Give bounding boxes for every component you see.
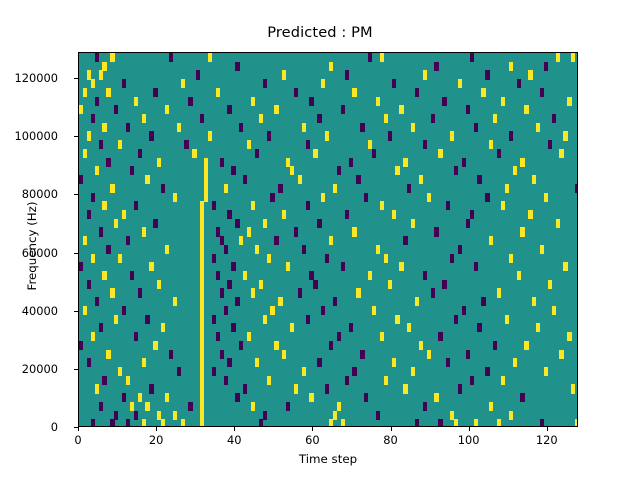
heatmap-cell [247, 140, 251, 149]
heatmap-cell [102, 271, 106, 280]
heatmap-cell [454, 419, 458, 427]
heatmap-cell [513, 166, 517, 175]
heatmap-cell [548, 280, 552, 289]
heatmap-cell [153, 219, 157, 228]
heatmap-cell [427, 350, 431, 359]
heatmap-cell [458, 245, 462, 254]
heatmap-cell [364, 393, 368, 402]
heatmap-cell [509, 131, 513, 140]
heatmap-cell [466, 219, 470, 228]
heatmap-cell [415, 297, 419, 306]
heatmap-cell [419, 175, 423, 184]
heatmap-cell [278, 297, 282, 306]
x-tick-mark [312, 427, 313, 431]
heatmap-cell [235, 393, 239, 402]
heatmap-cell [528, 70, 532, 79]
heatmap-cell [212, 367, 216, 376]
heatmap-cell [450, 254, 454, 263]
heatmap-cell [481, 88, 485, 97]
heatmap-cell [434, 393, 438, 402]
heatmap-cell [309, 97, 313, 106]
x-tick-mark [469, 427, 470, 431]
heatmap-cell [376, 411, 380, 420]
x-tick-mark [391, 427, 392, 431]
heatmap-cell [83, 236, 87, 245]
heatmap-cell [302, 245, 306, 254]
heatmap-cell [106, 158, 110, 167]
heatmap-cell [454, 166, 458, 175]
heatmap-cell [95, 53, 99, 62]
heatmap-cell [493, 114, 497, 123]
heatmap-cell [356, 175, 360, 184]
heatmap-cell [395, 315, 399, 324]
heatmap-cell [282, 350, 286, 359]
heatmap-cell [352, 367, 356, 376]
heatmap-cell [294, 227, 298, 236]
heatmap-cell [200, 236, 204, 245]
heatmap-cell [99, 140, 103, 149]
heatmap-cell [477, 323, 481, 332]
heatmap-cell [231, 262, 235, 271]
x-tick-label: 80 [383, 433, 398, 447]
heatmap-cell [255, 358, 259, 367]
heatmap-cell [114, 105, 118, 114]
heatmap-cell [267, 131, 271, 140]
heatmap-cell [99, 70, 103, 79]
heatmap-cell [474, 123, 478, 132]
heatmap-cell [306, 315, 310, 324]
heatmap-cell [571, 53, 575, 62]
heatmap-cell [540, 88, 544, 97]
heatmap-cell [239, 236, 243, 245]
heatmap-cell [110, 184, 114, 193]
heatmap-cell [99, 402, 103, 411]
heatmap-cell [270, 193, 274, 202]
heatmap-cell [126, 123, 130, 132]
heatmap-cell [509, 254, 513, 263]
heatmap-cell [122, 210, 126, 219]
heatmap-cell [294, 88, 298, 97]
heatmap-cell [552, 306, 556, 315]
heatmap-cell [466, 350, 470, 359]
heatmap-cell [83, 149, 87, 158]
heatmap-cell [563, 131, 567, 140]
x-tick-mark [78, 427, 79, 431]
heatmap-cell [216, 88, 220, 97]
heatmap-cell [157, 280, 161, 289]
heatmap-cell [520, 158, 524, 167]
heatmap-cell [227, 210, 231, 219]
heatmap-cell [356, 288, 360, 297]
heatmap-cell [110, 288, 114, 297]
heatmap-cell [259, 419, 263, 427]
heatmap-cell [360, 350, 364, 359]
heatmap-cell [392, 358, 396, 367]
heatmap-cell [505, 315, 509, 324]
heatmap-cell [497, 288, 501, 297]
heatmap-cell [474, 419, 478, 427]
heatmap-cell [411, 123, 415, 132]
heatmap-cell [200, 376, 204, 385]
heatmap-cell [399, 262, 403, 271]
matplotlib-figure: Predicted : PM 0200004000060000800001000… [0, 0, 640, 480]
heatmap-cell [134, 201, 138, 210]
heatmap-cell [212, 201, 216, 210]
heatmap-cell [247, 227, 251, 236]
heatmap-cell [438, 419, 442, 427]
heatmap-cell [302, 367, 306, 376]
heatmap-cell [255, 245, 259, 254]
x-tick-mark [547, 427, 548, 431]
heatmap-cell [87, 131, 91, 140]
x-axis-label: Time step [78, 452, 578, 466]
y-tick-label: 120000 [15, 71, 58, 85]
heatmap-cell [349, 323, 353, 332]
heatmap-cell [540, 245, 544, 254]
heatmap-cell [247, 332, 251, 341]
heatmap-cell [290, 166, 294, 175]
heatmap-cell [485, 367, 489, 376]
heatmap-cell [352, 227, 356, 236]
heatmap-cell [431, 114, 435, 123]
heatmap-cell [540, 419, 544, 427]
heatmap-cell [106, 88, 110, 97]
heatmap-cell [501, 201, 505, 210]
y-axis-label: Frequency (Hz) [25, 126, 39, 366]
heatmap-cell [169, 350, 173, 359]
heatmap-cell [411, 367, 415, 376]
heatmap-cell [567, 332, 571, 341]
heatmap-cell [267, 376, 271, 385]
heatmap-cell [259, 114, 263, 123]
heatmap-cell [501, 376, 505, 385]
y-tick-mark [74, 311, 78, 312]
heatmap-cell [298, 288, 302, 297]
heatmap-cell [227, 358, 231, 367]
heatmap-cell [110, 419, 114, 427]
heatmap-cell [177, 367, 181, 376]
heatmap-cell [99, 227, 103, 236]
heatmap-cell [118, 140, 122, 149]
heatmap-cell [235, 297, 239, 306]
heatmap-cell [536, 123, 540, 132]
heatmap-cell [235, 219, 239, 228]
heatmap-cell [251, 288, 255, 297]
heatmap-cell [208, 53, 212, 62]
heatmap-cell [259, 280, 263, 289]
heatmap-cell [325, 254, 329, 263]
heatmap-cell [388, 131, 392, 140]
heatmap-cell [87, 358, 91, 367]
y-tick-mark [74, 253, 78, 254]
heatmap-cell [462, 158, 466, 167]
heatmap-cell [95, 297, 99, 306]
heatmap-cell [450, 131, 454, 140]
heatmap-cell [200, 114, 204, 123]
y-tick-mark [74, 369, 78, 370]
heatmap-cell [321, 193, 325, 202]
heatmap-cell [177, 123, 181, 132]
heatmap-cell [341, 105, 345, 114]
heatmap-cell [220, 350, 224, 359]
heatmap-cell [419, 341, 423, 350]
heatmap-cell [149, 384, 153, 393]
heatmap-cell [173, 193, 177, 202]
heatmap-cell [142, 419, 146, 427]
heatmap-cell [399, 105, 403, 114]
heatmap-cell [263, 315, 267, 324]
heatmap-cell [470, 376, 474, 385]
heatmap-cell [333, 297, 337, 306]
heatmap-cell [349, 158, 353, 167]
heatmap-cell [161, 184, 165, 193]
heatmap-cell [145, 175, 149, 184]
heatmap-cell [368, 53, 372, 62]
heatmap-cell [392, 79, 396, 88]
heatmap-cell [497, 149, 501, 158]
heatmap-cell [309, 393, 313, 402]
heatmap-cell [563, 262, 567, 271]
heatmap-cell [212, 315, 216, 324]
heatmap-cell [411, 219, 415, 228]
heatmap-cell [118, 367, 122, 376]
heatmap-cell [267, 254, 271, 263]
heatmap-cell [423, 271, 427, 280]
heatmap-cell [380, 201, 384, 210]
heatmap-cell [274, 236, 278, 245]
heatmap-cell [282, 70, 286, 79]
heatmap-cell [134, 411, 138, 420]
heatmap-cell [438, 332, 442, 341]
heatmap-cell [333, 184, 337, 193]
heatmap-cell [224, 306, 228, 315]
x-tick-label: 40 [227, 433, 242, 447]
heatmap-cell [548, 140, 552, 149]
heatmap-cell [372, 306, 376, 315]
heatmap-cell [505, 184, 509, 193]
heatmap-cell [317, 114, 321, 123]
heatmap-cell [434, 62, 438, 71]
heatmap-cell [431, 288, 435, 297]
heatmap-cell [126, 419, 130, 427]
heatmap-cell [153, 341, 157, 350]
heatmap-cell [145, 315, 149, 324]
x-tick-mark [234, 427, 235, 431]
heatmap-cell [138, 149, 142, 158]
heatmap-cell [192, 149, 196, 158]
heatmap-cell [216, 332, 220, 341]
heatmap-cell [87, 280, 91, 289]
heatmap-cell [380, 332, 384, 341]
heatmap-cell [458, 79, 462, 88]
heatmap-cell [321, 306, 325, 315]
heatmap-cell [122, 393, 126, 402]
heatmap-cell [567, 97, 571, 106]
heatmap-cell [497, 419, 501, 427]
heatmap-cell [524, 341, 528, 350]
y-tick-mark [74, 136, 78, 137]
heatmap-cell [329, 236, 333, 245]
heatmap-cell [544, 367, 548, 376]
heatmap-cell [161, 419, 165, 427]
heatmap-cell [79, 262, 83, 271]
heatmap-cell [415, 88, 419, 97]
heatmap-cell [220, 288, 224, 297]
heatmap-cell [91, 332, 95, 341]
heatmap-cell [114, 219, 118, 228]
chart-title: Predicted : PM [0, 24, 640, 41]
heatmap-cell [134, 97, 138, 106]
heatmap-cell [532, 297, 536, 306]
heatmap-cell [575, 184, 578, 193]
heatmap-cell [106, 350, 110, 359]
heatmap-cell [114, 315, 118, 324]
heatmap-cell [337, 402, 341, 411]
heatmap-cell [313, 149, 317, 158]
heatmap-cell [212, 254, 216, 263]
heatmap-cell [556, 53, 560, 62]
heatmap-cell [208, 131, 212, 140]
heatmap-cell [196, 70, 200, 79]
heatmap-cell [239, 341, 243, 350]
heatmap-cell [83, 306, 87, 315]
heatmap-cell [544, 193, 548, 202]
heatmap-cell [407, 323, 411, 332]
heatmap-cell [302, 123, 306, 132]
heatmap-cell [188, 97, 192, 106]
heatmap-cell [220, 158, 224, 167]
heatmap-cell [442, 97, 446, 106]
heatmap-cell [181, 419, 185, 427]
heatmap-cell [184, 140, 188, 149]
heatmap-cell [360, 123, 364, 132]
heatmap-cell [317, 358, 321, 367]
heatmap-cell [270, 306, 274, 315]
heatmap-cell [509, 411, 513, 420]
heatmap-cell [575, 419, 578, 427]
heatmap-cell [345, 210, 349, 219]
heatmap-cell [442, 280, 446, 289]
heatmap-cell [524, 105, 528, 114]
heatmap-cell [165, 245, 169, 254]
heatmap-cell [384, 376, 388, 385]
heatmap-cell [313, 280, 317, 289]
heatmap-cell [255, 149, 259, 158]
heatmap-cell [520, 227, 524, 236]
heatmap-cell [376, 245, 380, 254]
heatmap-cell [122, 306, 126, 315]
heatmap-cell [489, 236, 493, 245]
x-tick-label: 60 [305, 433, 320, 447]
heatmap-cell [251, 97, 255, 106]
heatmap-cell [434, 227, 438, 236]
heatmap-cell [114, 411, 118, 420]
heatmap-cell [520, 393, 524, 402]
y-tick-mark [74, 194, 78, 195]
heatmap-cell [559, 149, 563, 158]
heatmap-cell [95, 384, 99, 393]
heatmap-cell [79, 175, 83, 184]
heatmap-cell [153, 88, 157, 97]
heatmap-cell [188, 402, 192, 411]
heatmap-cell [173, 297, 177, 306]
heatmap-cell [243, 271, 247, 280]
x-tick-mark [156, 427, 157, 431]
heatmap-cell [392, 210, 396, 219]
heatmap-cell [274, 341, 278, 350]
heatmap-cell [517, 79, 521, 88]
heatmap-cell [446, 358, 450, 367]
heatmap-cell [227, 105, 231, 114]
heatmap-cell [325, 131, 329, 140]
heatmap-axes[interactable] [78, 52, 578, 427]
heatmap-cell [485, 70, 489, 79]
heatmap-cell [126, 236, 130, 245]
heatmap-cell [118, 254, 122, 263]
heatmap-cell [423, 402, 427, 411]
heatmap-cell [474, 262, 478, 271]
heatmap-cell [559, 350, 563, 359]
heatmap-cell [376, 97, 380, 106]
heatmap-cell [517, 271, 521, 280]
heatmap-cell [282, 210, 286, 219]
heatmap-cells [79, 53, 577, 426]
heatmap-cell [91, 79, 95, 88]
heatmap-cell [216, 271, 220, 280]
heatmap-cell [83, 88, 87, 97]
heatmap-cell [286, 262, 290, 271]
heatmap-cell [79, 105, 83, 114]
heatmap-cell [528, 210, 532, 219]
heatmap-cell [552, 114, 556, 123]
heatmap-cell [341, 419, 345, 427]
heatmap-cell [462, 306, 466, 315]
heatmap-cell [458, 384, 462, 393]
heatmap-cell [165, 393, 169, 402]
heatmap-cell [388, 280, 392, 289]
heatmap-cell [95, 166, 99, 175]
heatmap-cell [102, 201, 106, 210]
heatmap-cell [169, 53, 173, 62]
heatmap-cell [329, 419, 333, 427]
heatmap-cell [251, 402, 255, 411]
heatmap-cell [79, 341, 83, 350]
heatmap-cell [110, 53, 114, 62]
heatmap-cell [329, 62, 333, 71]
heatmap-cell [329, 341, 333, 350]
heatmap-cell [489, 402, 493, 411]
heatmap-cell [235, 62, 239, 71]
y-tick-mark [74, 78, 78, 79]
heatmap-cell [333, 411, 337, 420]
heatmap-cell [532, 175, 536, 184]
heatmap-cell [345, 70, 349, 79]
heatmap-cell [263, 411, 267, 420]
heatmap-cell [161, 323, 165, 332]
heatmap-cell [290, 323, 294, 332]
x-tick-label: 100 [458, 433, 480, 447]
heatmap-cell [477, 175, 481, 184]
heatmap-cell [470, 210, 474, 219]
heatmap-cell [493, 341, 497, 350]
heatmap-cell [317, 219, 321, 228]
heatmap-cell [149, 262, 153, 271]
heatmap-cell [220, 236, 224, 245]
heatmap-cell [91, 419, 95, 427]
heatmap-cell [513, 358, 517, 367]
heatmap-cell [571, 384, 575, 393]
heatmap-cell [352, 88, 356, 97]
